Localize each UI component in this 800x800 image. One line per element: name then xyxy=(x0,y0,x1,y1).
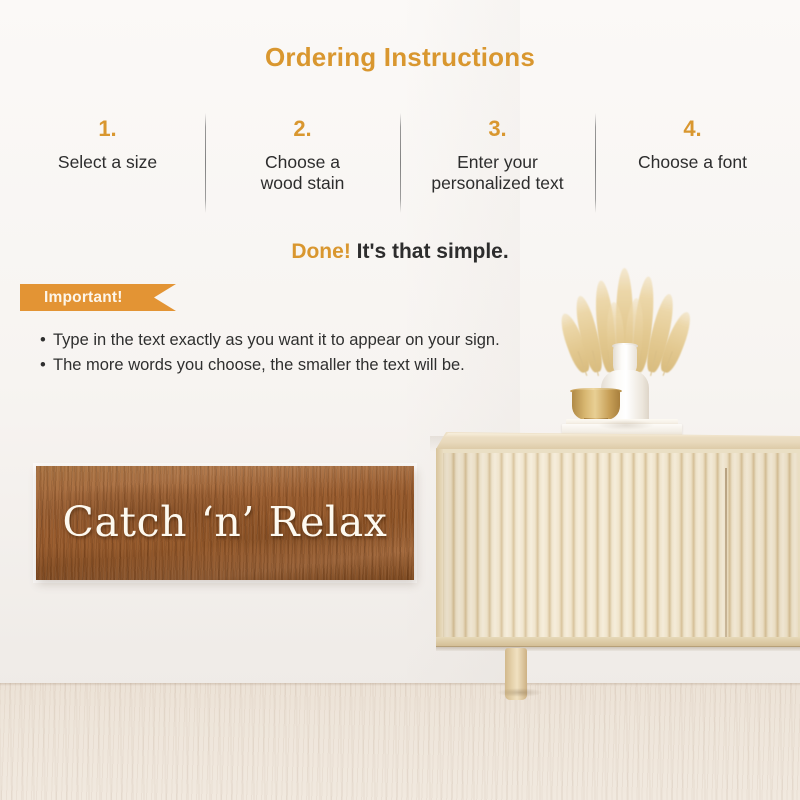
bullet-text: Type in the text exactly as you want it … xyxy=(53,328,500,353)
important-ribbon: Important! xyxy=(20,284,176,311)
fluted-wood-sideboard xyxy=(436,432,800,664)
done-rest: It's that simple. xyxy=(351,240,509,263)
wooden-sign-product: Catch ‘n’ Relax xyxy=(36,466,414,580)
step-1-number: 1. xyxy=(10,115,205,143)
important-ribbon-label: Important! xyxy=(20,289,123,307)
wood-floor xyxy=(0,683,800,800)
sideboard-shading xyxy=(442,453,798,641)
product-listing-infographic: Catch ‘n’ Relax Ordering Instructions 1.… xyxy=(0,0,800,800)
step-1: 1. Select a size xyxy=(10,115,205,215)
done-line: Done! It's that simple. xyxy=(0,240,800,264)
sideboard-top-highlight xyxy=(444,433,800,437)
step-4-label: Choose a font xyxy=(595,152,790,173)
sideboard-door-seam xyxy=(725,468,727,646)
done-highlight: Done! xyxy=(291,240,351,263)
step-2-number: 2. xyxy=(205,115,400,143)
page-title: Ordering Instructions xyxy=(0,42,800,73)
floor-wall-join xyxy=(0,683,800,686)
bullet-item: • The more words you choose, the smaller… xyxy=(40,353,640,378)
sideboard-left-edge xyxy=(436,448,443,646)
step-4: 4. Choose a font xyxy=(595,115,790,215)
sign-personalized-text: Catch ‘n’ Relax xyxy=(36,466,414,580)
bullet-text: The more words you choose, the smaller t… xyxy=(53,353,465,378)
step-1-label: Select a size xyxy=(10,152,205,173)
step-4-number: 4. xyxy=(595,115,790,143)
step-3: 3. Enter your personalized text xyxy=(400,115,595,215)
bullet-item: • Type in the text exactly as you want i… xyxy=(40,328,640,353)
vase-contact-shadow xyxy=(598,420,654,430)
steps-row: 1. Select a size 2. Choose a wood stain … xyxy=(10,115,790,215)
sideboard-leg-shadow xyxy=(497,688,543,697)
step-3-label: Enter your personalized text xyxy=(400,152,595,194)
bullet-dot-icon: • xyxy=(40,353,53,378)
step-2-label: Choose a wood stain xyxy=(205,152,400,194)
important-bullet-list: • Type in the text exactly as you want i… xyxy=(40,328,640,378)
step-2: 2. Choose a wood stain xyxy=(205,115,400,215)
step-3-number: 3. xyxy=(400,115,595,143)
sideboard-underside-shadow xyxy=(436,646,800,651)
sideboard-body xyxy=(436,448,800,646)
bullet-dot-icon: • xyxy=(40,328,53,353)
brass-bowl xyxy=(572,390,620,420)
